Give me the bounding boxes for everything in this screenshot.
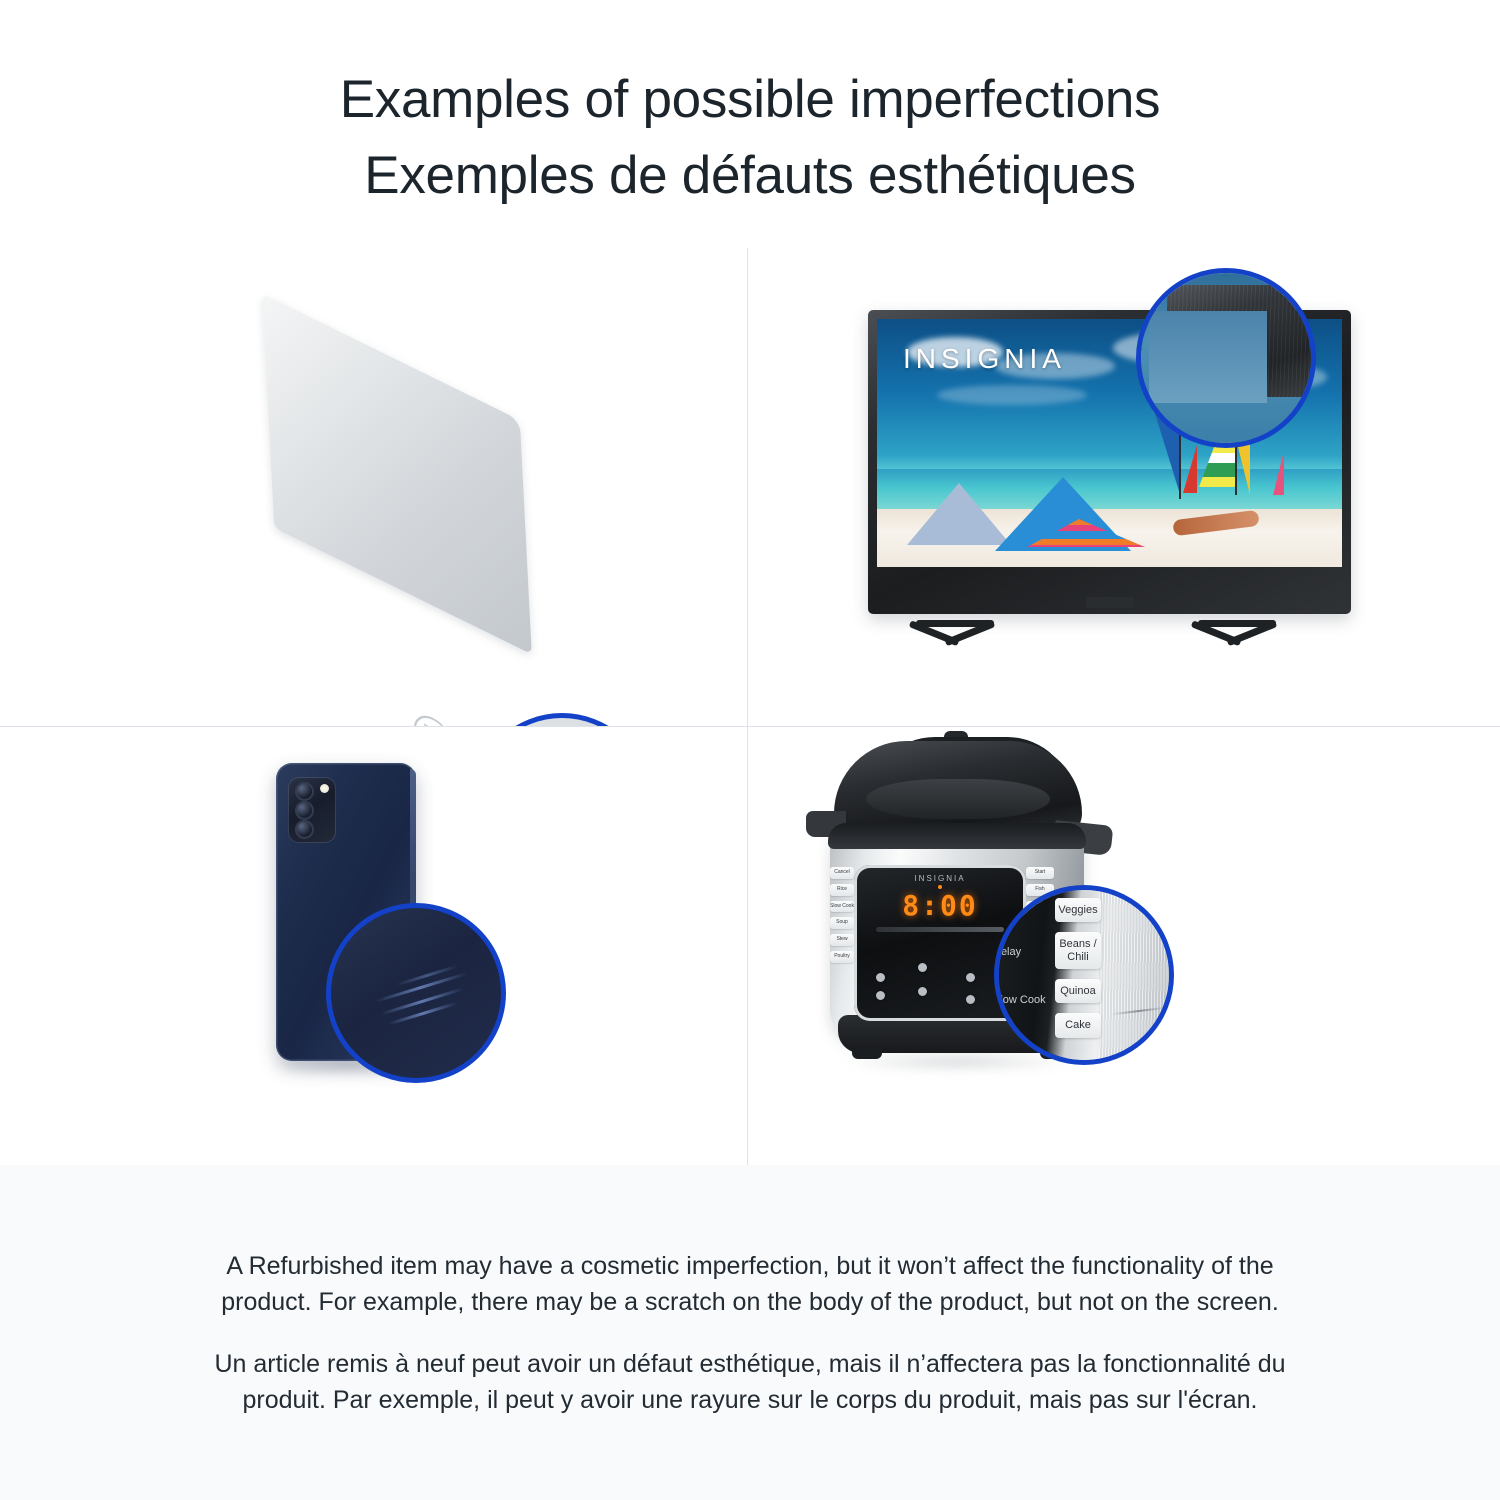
- phone-magnifier-circle: [326, 903, 506, 1083]
- page-title-english: Examples of possible imperfections: [340, 62, 1161, 138]
- cooker-right-button[interactable]: Start: [1026, 867, 1054, 879]
- cooker-foot: [852, 1049, 882, 1059]
- cooker-button[interactable]: [966, 995, 975, 1004]
- cooker-magnified-left-label: Delay: [994, 946, 1047, 958]
- cooker-magnifier-circle: Delay Slow Cook Veggies Beans / Chili Qu…: [994, 885, 1174, 1065]
- cooker-button-grid[interactable]: [870, 951, 1010, 1013]
- tv-bezel-corner-imperfection: [1167, 285, 1316, 397]
- tv-magnifier-circle: [1136, 268, 1316, 448]
- sailboat-red: [1183, 445, 1197, 493]
- camera-module: [288, 777, 336, 843]
- cooker-left-button[interactable]: Cancel: [830, 867, 854, 879]
- tv-center-bump: [1086, 597, 1134, 608]
- phone-example-cell: [0, 727, 748, 1165]
- cooker-magnified-buttons[interactable]: Veggies Beans / Chili Quinoa Cake: [1055, 898, 1101, 1038]
- laptop-lid: [262, 294, 532, 655]
- camera-lens-icon: [295, 801, 314, 820]
- cooker-magnified-button[interactable]: Veggies: [1055, 898, 1101, 922]
- cloud-shape: [937, 385, 1087, 405]
- cooker-brand-label: INSIGNIA: [854, 874, 1026, 883]
- disclaimer-english: A Refurbished item may have a cosmetic i…: [185, 1248, 1315, 1320]
- tv-illustration: INSIGNIA: [748, 248, 1500, 726]
- cooker-button[interactable]: [876, 991, 885, 1000]
- cooker-magnified-left-label: Slow Cook: [994, 994, 1047, 1006]
- laptop-illustration: [0, 248, 747, 726]
- phone-scratch-mark: [388, 1002, 458, 1026]
- phone-illustration: [0, 727, 747, 1165]
- camera-lens-icon: [295, 820, 314, 839]
- cooker-button[interactable]: [876, 973, 885, 982]
- cooker-magnified-button[interactable]: Beans / Chili: [1055, 932, 1101, 969]
- cooker-left-button[interactable]: Slow Cook: [830, 901, 854, 913]
- cooker-left-button[interactable]: Stew: [830, 934, 854, 946]
- camera-flash-icon: [320, 784, 329, 793]
- cooker-button[interactable]: [966, 973, 975, 982]
- pressure-cooker-example-cell: INSIGNIA 8:00 Cancel Rice: [748, 727, 1500, 1165]
- bezel-scuff-texture: [1167, 285, 1316, 397]
- tv-foot-right: [1198, 620, 1276, 627]
- page-header: Examples of possible imperfections Exemp…: [0, 0, 1500, 248]
- laptop-example-cell: [0, 248, 748, 727]
- tv-foot-left: [916, 620, 994, 627]
- page-title-french: Exemples de défauts esthétiques: [364, 138, 1135, 214]
- brushed-steel-texture: [1099, 890, 1174, 1065]
- cooker-button[interactable]: [918, 987, 927, 996]
- pressure-cooker-illustration: INSIGNIA 8:00 Cancel Rice: [748, 727, 1500, 1165]
- cooker-magnified-button[interactable]: Quinoa: [1055, 979, 1101, 1003]
- sailboat-yellow: [1237, 443, 1250, 495]
- cooker-left-button[interactable]: Poultry: [830, 951, 854, 963]
- cooker-left-button[interactable]: Soup: [830, 917, 854, 929]
- laptop-magnifier-circle: [472, 713, 652, 727]
- cooker-left-button-column[interactable]: Cancel Rice Slow Cook Soup Stew Poultry: [830, 867, 854, 963]
- disclaimer-footer: A Refurbished item may have a cosmetic i…: [0, 1165, 1500, 1500]
- cooker-button[interactable]: [918, 963, 927, 972]
- dell-logo-icon: [413, 709, 454, 727]
- camera-lens-icon: [295, 782, 314, 801]
- cooker-lid-top: [866, 779, 1050, 819]
- refurbished-imperfections-infographic: Examples of possible imperfections Exemp…: [0, 0, 1500, 1500]
- sailboat-pink: [1273, 451, 1284, 495]
- cooker-rim: [828, 823, 1086, 849]
- cooker-magnified-surface: Delay Slow Cook Veggies Beans / Chili Qu…: [999, 890, 1169, 1060]
- cooker-left-button[interactable]: Rice: [830, 884, 854, 896]
- tv-example-cell: INSIGNIA: [748, 248, 1500, 727]
- tv-brand-logo: INSIGNIA: [903, 343, 1066, 375]
- cooker-pressure-slider[interactable]: [876, 927, 1004, 932]
- cooker-magnified-button[interactable]: Cake: [1055, 1013, 1101, 1037]
- product-examples-grid: INSIGNIA: [0, 248, 1500, 1165]
- disclaimer-french: Un article remis à neuf peut avoir un dé…: [185, 1346, 1315, 1418]
